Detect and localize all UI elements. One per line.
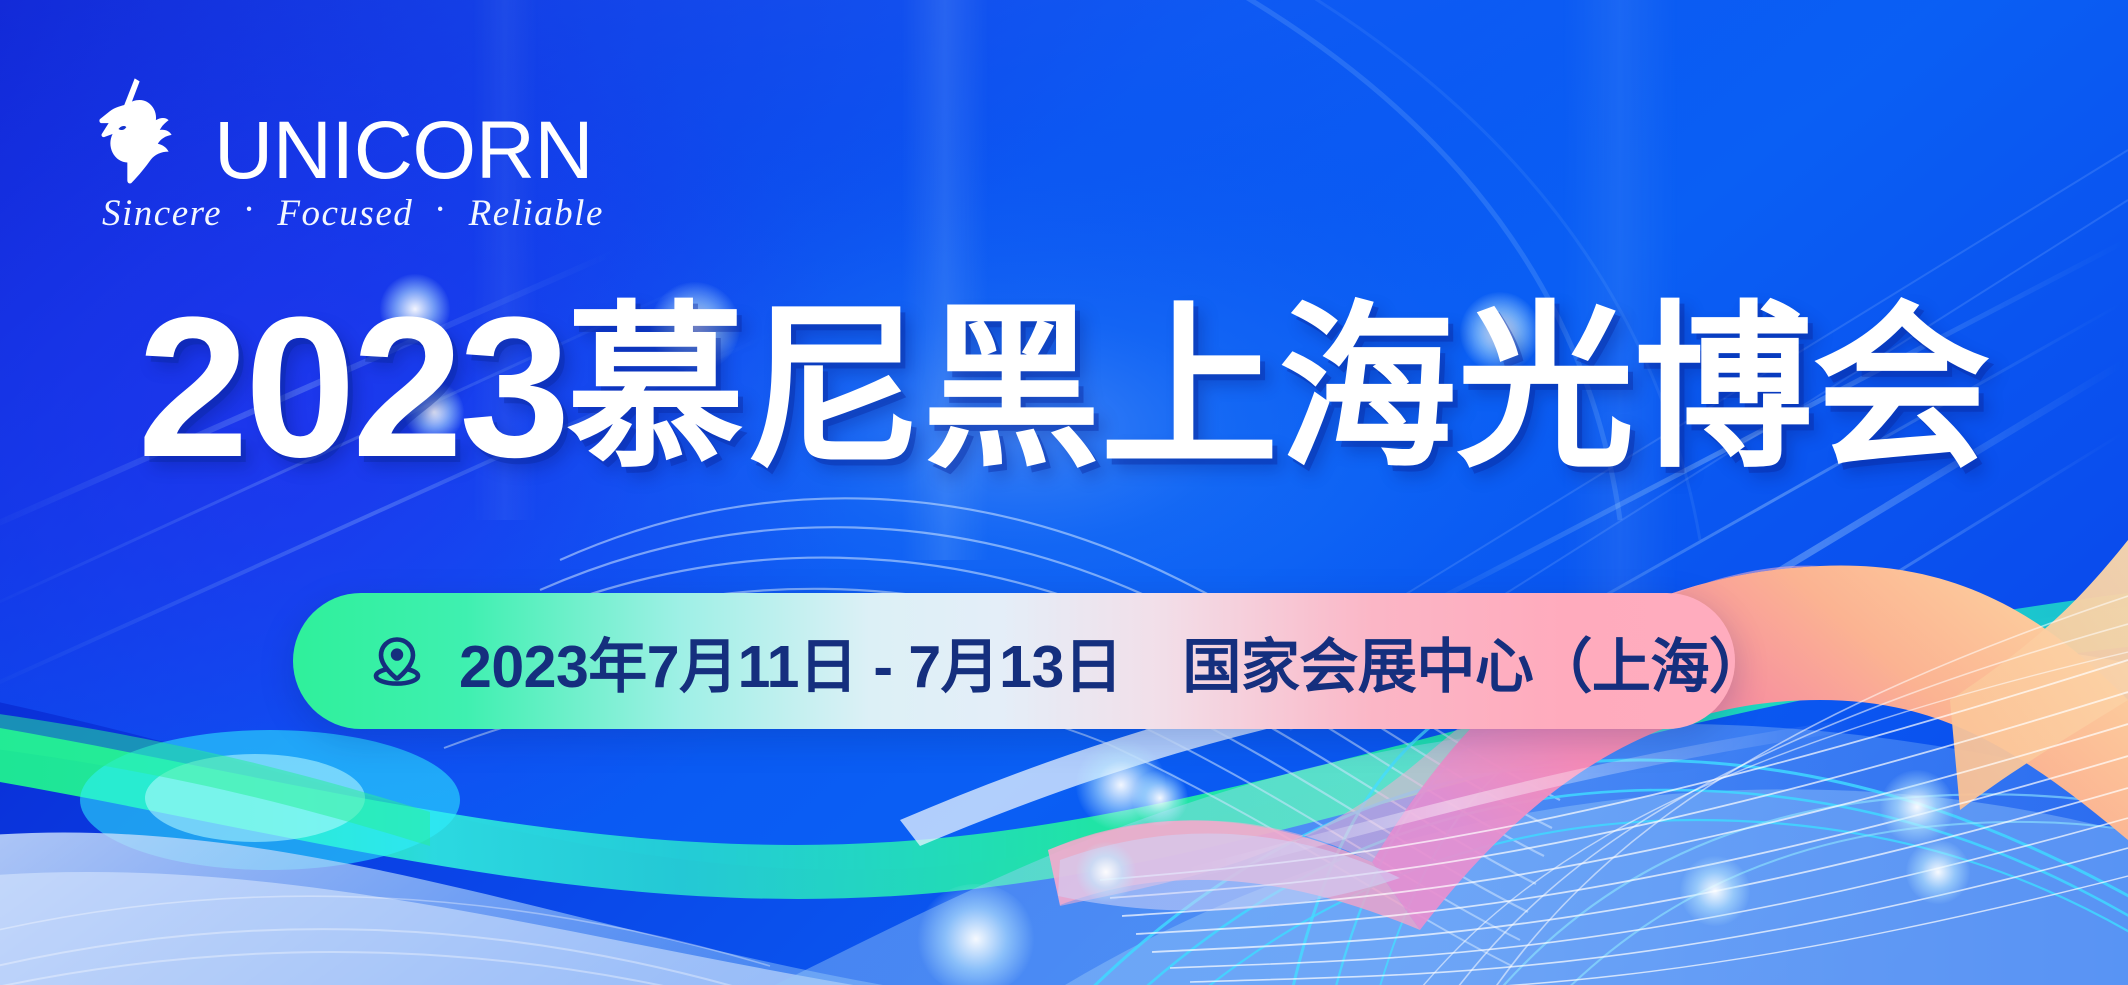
tagline-item-3: Reliable [469,193,604,234]
logo-wordmark: UNICORN [214,113,593,188]
headline-year: 2023 [138,288,567,488]
tagline-separator-2: · [424,188,458,231]
logo-row: UNICORN [88,68,558,186]
event-date: 2023年7月11日 - 7月13日 [459,619,1122,704]
brand-logo[interactable]: UNICORN Sincere · Focused · Reliable [88,68,558,235]
tagline-item-2: Focused [277,193,413,234]
tagline-item-1: Sincere [102,193,222,234]
headline-title-cjk: 慕尼黑上海光博会 [566,300,1990,478]
event-info-pill: 2023年7月11日 - 7月13日 国家会展中心（上海） [293,593,1735,729]
event-banner: UNICORN Sincere · Focused · Reliable 202… [0,0,2128,985]
logo-tagline: Sincere · Focused · Reliable [88,192,558,235]
event-venue: 国家会展中心（上海） [1182,619,1767,704]
unicorn-head-icon [88,72,206,190]
tagline-separator-1: · [233,188,267,231]
location-pin-icon [369,634,425,690]
event-info-text: 2023年7月11日 - 7月13日 国家会展中心（上海） [459,619,1767,704]
page-title: 2023慕尼黑上海光博会 [0,288,2128,488]
